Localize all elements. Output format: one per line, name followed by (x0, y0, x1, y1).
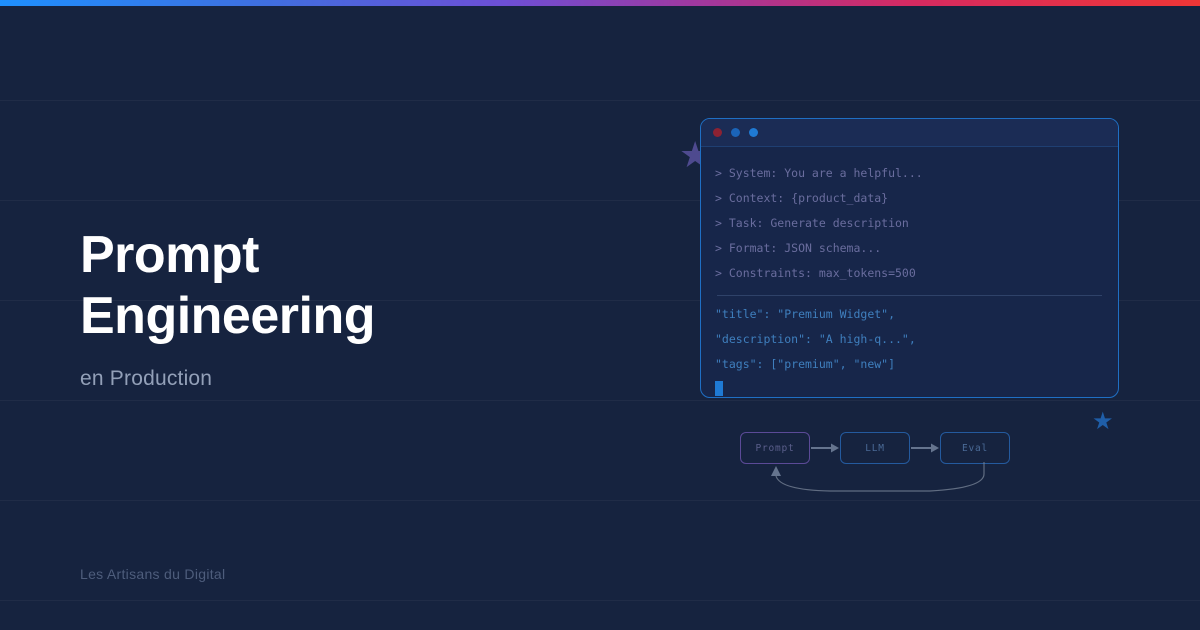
page-title: Prompt Engineering (80, 225, 640, 347)
window-close-dot-icon[interactable] (713, 128, 722, 137)
window-maximize-dot-icon[interactable] (749, 128, 758, 137)
flow-feedback-loop-arrow-icon (740, 460, 1010, 500)
slide-canvas: ★ ★ Prompt Engineering en Production Les… (0, 0, 1200, 630)
window-minimize-dot-icon[interactable] (731, 128, 740, 137)
terminal-output-line: "title": "Premium Widget", (715, 302, 1104, 327)
terminal-divider (717, 295, 1102, 296)
star-decoration-blue-icon: ★ (1092, 410, 1114, 434)
terminal-output-line: "tags": ["premium", "new"] (715, 352, 1104, 377)
terminal-prompt-line: > Format: JSON schema... (715, 236, 1104, 261)
terminal-window: > System: You are a helpful... > Context… (700, 118, 1119, 398)
flow-arrow-llm-to-eval-icon (910, 443, 940, 453)
gradient-accent-bar (0, 0, 1200, 6)
footer-brand: Les Artisans du Digital (80, 566, 225, 582)
flow-node-eval-label: Eval (962, 443, 988, 454)
headline-block: Prompt Engineering en Production (80, 225, 640, 391)
terminal-cursor (715, 381, 723, 396)
flow-arrow-prompt-to-llm-icon (810, 443, 840, 453)
terminal-body: > System: You are a helpful... > Context… (701, 147, 1118, 398)
terminal-prompt-line: > System: You are a helpful... (715, 161, 1104, 186)
terminal-prompt-line: > Constraints: max_tokens=500 (715, 261, 1104, 286)
terminal-prompt-line: > Context: {product_data} (715, 186, 1104, 211)
terminal-output-line: "description": "A high-q...", (715, 327, 1104, 352)
page-subtitle: en Production (80, 367, 640, 391)
page-title-line-2: Engineering (80, 286, 640, 347)
pipeline-flow-diagram: Prompt LLM Eval (740, 432, 1040, 502)
terminal-titlebar (701, 119, 1118, 147)
terminal-prompt-line: > Task: Generate description (715, 211, 1104, 236)
flow-node-llm-label: LLM (865, 443, 885, 454)
page-title-line-1: Prompt (80, 225, 640, 286)
flow-node-prompt-label: Prompt (755, 443, 794, 454)
